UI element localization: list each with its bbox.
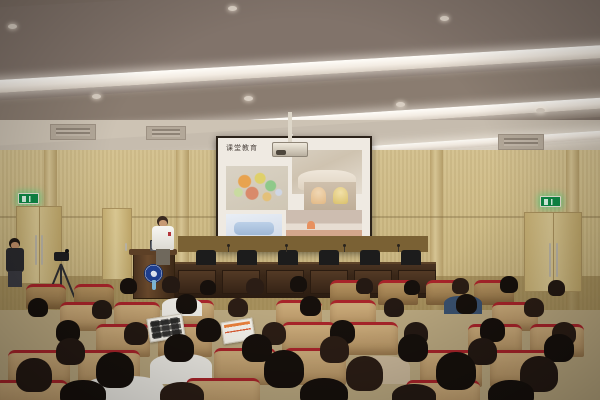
staff-body (6, 248, 24, 272)
audience-head (392, 384, 436, 400)
downlight (228, 6, 237, 11)
audience-head (356, 278, 373, 294)
ceiling (0, 0, 600, 132)
audience-head (436, 352, 476, 390)
table-microphone (398, 246, 399, 252)
slide-title: 课堂教育 (226, 143, 258, 153)
stage-chair (360, 250, 380, 265)
stage-chair (196, 250, 216, 265)
audience-head (96, 352, 134, 388)
door-handle (125, 243, 127, 251)
table-microphone (228, 246, 229, 252)
audience-head (404, 280, 420, 295)
audience-head (290, 276, 307, 292)
door-left-single[interactable] (102, 208, 132, 280)
stage-chair (319, 250, 339, 265)
door-handle (549, 243, 551, 277)
stage-back-panel (178, 236, 428, 252)
stage-chair (237, 250, 257, 265)
downlight (92, 94, 101, 99)
door-split (39, 207, 40, 283)
downlight (396, 102, 405, 107)
table-microphone (344, 246, 345, 252)
audience-head (246, 278, 264, 295)
audience-head (346, 356, 383, 391)
audience-head (162, 276, 180, 293)
audience-head (200, 280, 216, 295)
downlight (536, 108, 545, 113)
video-camera-icon (54, 252, 69, 261)
speaker-legs (156, 249, 170, 265)
audience-head (196, 318, 221, 342)
audience-head (16, 358, 52, 392)
projector-pole (288, 112, 292, 146)
audience-head (398, 334, 428, 362)
audience-head (264, 350, 304, 388)
exit-sign-left (18, 193, 39, 204)
projector-lens-icon (276, 150, 286, 155)
audience-head (548, 280, 565, 296)
audience-head (176, 294, 197, 314)
exit-sign-right (540, 196, 561, 207)
audience-head (164, 334, 194, 362)
table-microphone (286, 246, 287, 252)
speaker-badge (168, 232, 171, 236)
downlight (440, 16, 449, 21)
downlight (244, 96, 253, 101)
slide-image-dessert-cups (304, 182, 356, 210)
stage-chair (278, 250, 298, 265)
door-handle (41, 235, 43, 265)
audience-head (120, 278, 137, 294)
stage-chair (401, 250, 421, 265)
speaker-person (152, 216, 174, 264)
audience-head (300, 378, 348, 400)
audience-head (124, 322, 148, 345)
audience-area (0, 276, 600, 400)
audience-head (320, 336, 349, 363)
water-bottle (152, 280, 156, 290)
audience-head (384, 298, 404, 317)
audience-head (228, 298, 248, 317)
door-handle (556, 243, 558, 277)
door-handle (35, 235, 37, 265)
audience-head (300, 296, 321, 316)
audience-head (60, 380, 106, 400)
audience-head (56, 338, 85, 365)
audience-head (524, 298, 544, 317)
audience-head (92, 300, 112, 319)
lecture-hall-photo: 课堂教育 (0, 0, 600, 400)
hvac-vent (498, 134, 544, 150)
downlight (8, 24, 17, 29)
hvac-vent (50, 124, 96, 140)
speaker-body (152, 226, 174, 250)
audience-head (28, 298, 48, 317)
audience-head (488, 380, 534, 400)
audience-head (452, 278, 469, 294)
slide-image-clay-figures (226, 166, 288, 210)
audience-head (160, 382, 204, 400)
hvac-vent (146, 126, 186, 140)
audience-head (500, 276, 518, 293)
audience-head (456, 294, 477, 314)
